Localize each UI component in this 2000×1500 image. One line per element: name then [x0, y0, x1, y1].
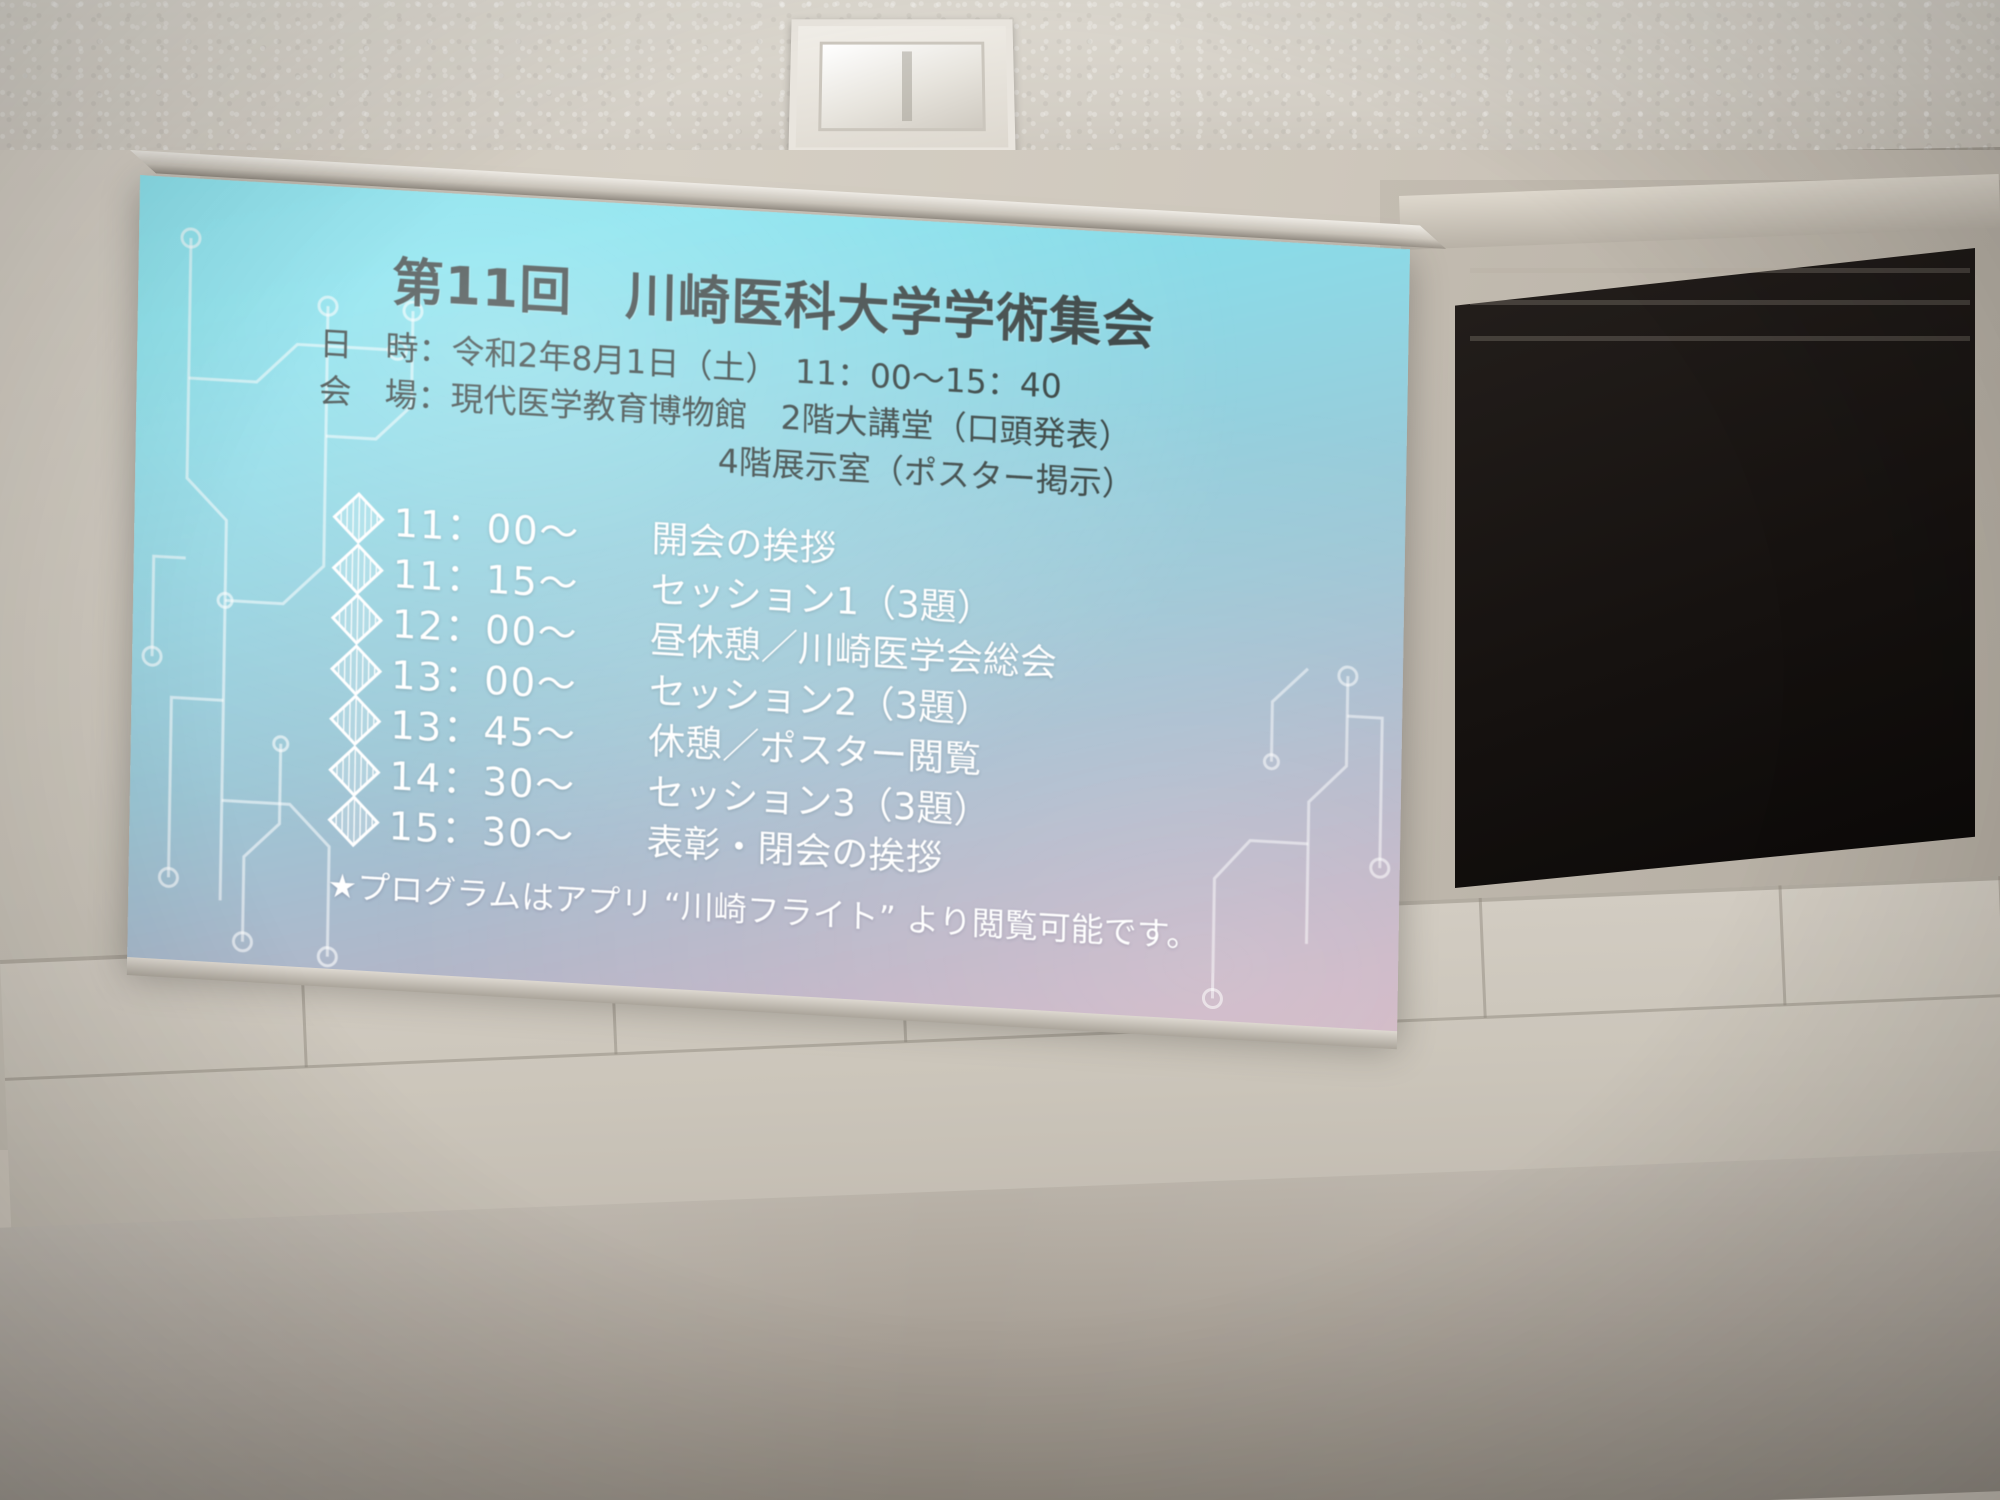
- diamond-hatched-icon: [328, 744, 382, 798]
- recess-slat: [1470, 336, 1970, 341]
- diamond-hatched-icon: [331, 542, 385, 596]
- projection-screen: 第11回 川崎医科大学学術集会 日 時：令和2年8月1日（土） 11：00〜15…: [127, 175, 1410, 1039]
- ceiling-light-slot: [902, 51, 912, 121]
- diamond-hatched-icon: [328, 693, 382, 747]
- tile-seam: [1778, 885, 1786, 1005]
- slide-content: 第11回 川崎医科大学学術集会 日 時：令和2年8月1日（土） 11：00〜15…: [127, 175, 1410, 1039]
- projected-slide: 第11回 川崎医科大学学術集会 日 時：令和2年8月1日（土） 11：00〜15…: [127, 175, 1410, 1039]
- diamond-hatched-icon: [330, 592, 384, 646]
- tile-seam: [1479, 898, 1487, 1018]
- dark-doorway-recess: [1455, 248, 1975, 888]
- lecture-room-photo: 第11回 川崎医科大学学術集会 日 時：令和2年8月1日（土） 11：00〜15…: [0, 0, 2000, 1500]
- diamond-hatched-icon: [329, 643, 383, 697]
- diamond-hatched-icon: [332, 491, 386, 545]
- diamond-hatched-icon: [327, 794, 381, 848]
- recessed-ceiling-light: [788, 19, 1015, 154]
- schedule-list: 11：00〜 開会の挨拶 11：15〜 セッション1（3題）: [334, 492, 1340, 904]
- ceiling-light-diffuser: [818, 42, 986, 132]
- recess-slat: [1470, 300, 1970, 305]
- recess-slat: [1470, 268, 1970, 273]
